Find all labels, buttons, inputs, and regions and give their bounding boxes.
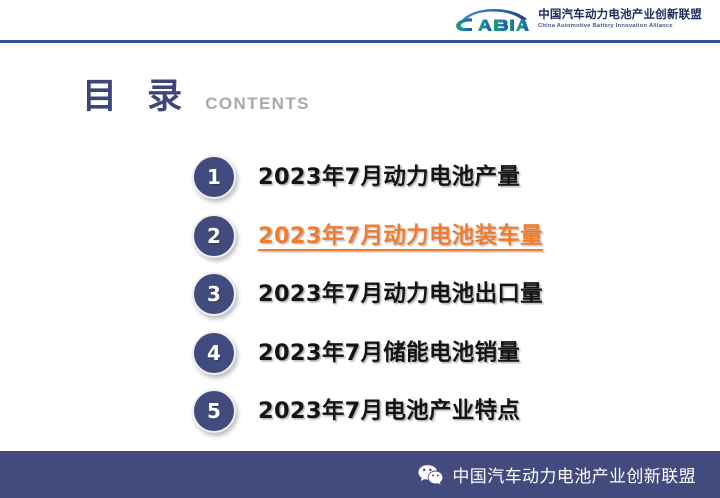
item-number-badge: 5 (192, 389, 236, 433)
item-number-badge: 3 (192, 272, 236, 316)
list-item-label[interactable]: 2023年7月动力电池产量 (258, 166, 520, 189)
page-title-en: CONTENTS (205, 95, 310, 112)
wechat-icon (418, 464, 443, 486)
item-number: 1 (207, 167, 221, 187)
org-name-en: China Automotive Battery Innovation Alli… (538, 24, 705, 30)
org-name-cn: 中国汽车动力电池产业创新联盟 (538, 10, 702, 22)
page-title-cn: 目 录 (82, 80, 191, 115)
item-number-badge: 2 (192, 214, 236, 258)
list-item-label[interactable]: 2023年7月动力电池出口量 (258, 283, 543, 306)
item-number: 2 (207, 226, 221, 246)
footer-brand: 中国汽车动力电池产业创新联盟 (418, 462, 696, 487)
brand-lockup: 中国汽车动力电池产业创新联盟 China Automotive Battery … (455, 7, 702, 33)
slide-footer: 中国汽车动力电池产业创新联盟 (0, 451, 720, 498)
header-divider-rule (0, 40, 720, 43)
list-item-label[interactable]: 2023年7月储能电池销量 (258, 342, 520, 365)
item-number: 4 (207, 343, 221, 363)
item-number: 3 (207, 284, 221, 304)
item-number: 5 (207, 401, 221, 421)
list-item[interactable]: 3 2023年7月动力电池出口量 (192, 265, 662, 324)
slide-header: 中国汽车动力电池产业创新联盟 China Automotive Battery … (0, 0, 720, 42)
footer-org-name: 中国汽车动力电池产业创新联盟 (452, 462, 696, 487)
list-item[interactable]: 1 2023年7月动力电池产量 (192, 148, 662, 207)
slide-contents-page: 中国汽车动力电池产业创新联盟 China Automotive Battery … (0, 0, 720, 498)
list-item-label-active[interactable]: 2023年7月动力电池装车量 (258, 225, 543, 248)
list-item[interactable]: 4 2023年7月储能电池销量 (192, 324, 662, 383)
item-number-badge: 4 (192, 331, 236, 375)
brand-text: 中国汽车动力电池产业创新联盟 China Automotive Battery … (538, 10, 702, 30)
list-item[interactable]: 5 2023年7月电池产业特点 (192, 382, 662, 441)
item-number-badge: 1 (192, 155, 236, 199)
list-item[interactable]: 2 2023年7月动力电池装车量 (192, 207, 662, 266)
contents-list: 1 2023年7月动力电池产量 2 2023年7月动力电池装车量 3 2023年… (192, 148, 662, 441)
cabia-logo-icon (455, 7, 529, 33)
page-title: 目 录 CONTENTS (82, 80, 310, 115)
list-item-label[interactable]: 2023年7月电池产业特点 (258, 400, 520, 423)
